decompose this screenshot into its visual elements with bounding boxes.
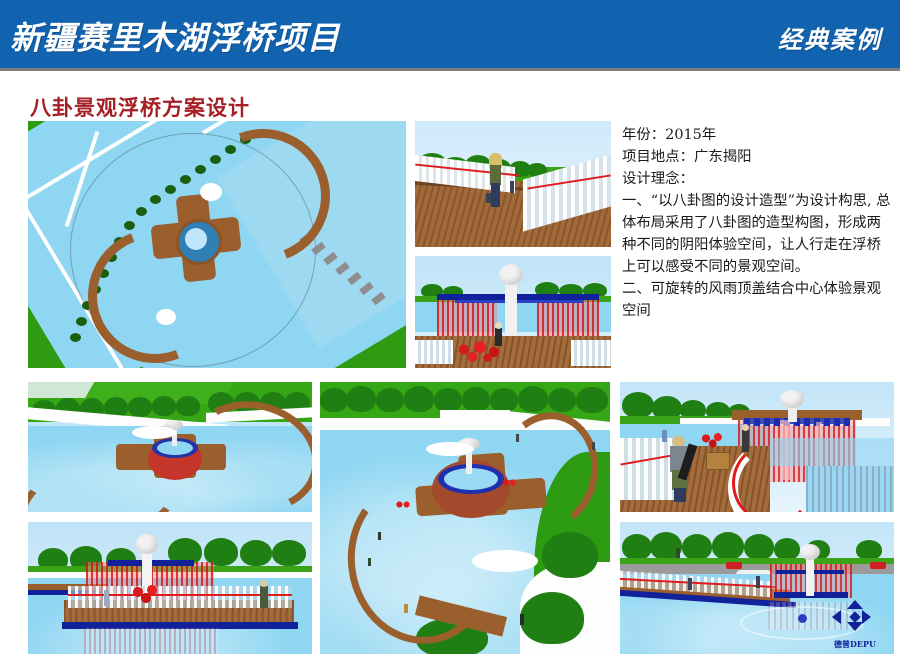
header-badge: 经典案例	[778, 20, 882, 55]
project-info-panel: 年份：2015年 项目地点：广东揭阳 设计理念： 一、“以八卦图的设计造型”为设…	[622, 124, 894, 322]
figure	[378, 532, 381, 540]
figure	[676, 548, 680, 558]
image-site-plan[interactable]	[28, 121, 406, 368]
figure	[674, 488, 686, 502]
info-concept-2: 二、可旋转的风雨顶盖结合中心体验景观空间	[622, 278, 894, 322]
slide-page: 新疆赛里木湖浮桥项目 经典案例 八卦景观浮桥方案设计	[0, 0, 900, 672]
company-logo: 德普DEPU	[824, 600, 886, 650]
figure	[662, 430, 667, 442]
section-title: 八卦景观浮桥方案设计	[30, 92, 250, 122]
info-concept-1: 一、“以八卦图的设计造型”为设计构思, 总体布局采用了八卦图的造型构图，形成两种…	[622, 190, 894, 278]
figure	[404, 604, 408, 613]
figure	[260, 586, 268, 608]
header-divider	[0, 68, 900, 71]
image-lakeside-view[interactable]: 德普DEPU	[620, 522, 894, 654]
image-pavilion-elevation[interactable]	[28, 522, 312, 654]
image-aerial-main[interactable]	[320, 382, 610, 654]
figure	[260, 580, 268, 587]
page-title: 新疆赛里木湖浮桥项目	[10, 13, 340, 59]
image-deck-walkway[interactable]	[415, 121, 611, 247]
figure	[495, 322, 502, 329]
figure	[104, 590, 109, 606]
figure	[490, 165, 501, 185]
figure	[368, 558, 371, 566]
flower-bed	[698, 432, 730, 448]
figure	[486, 193, 491, 203]
figure	[495, 328, 502, 346]
image-aerial-left[interactable]	[28, 382, 312, 512]
info-location: 项目地点：广东揭阳	[622, 146, 894, 168]
figure	[742, 430, 749, 452]
info-year: 年份：2015年	[622, 124, 894, 146]
logo-diamond-icon	[832, 600, 878, 638]
figure	[510, 181, 514, 193]
image-deck-people[interactable]	[620, 382, 894, 512]
figure	[592, 442, 595, 450]
figure	[491, 183, 500, 207]
info-concept-label: 设计理念：	[622, 168, 894, 190]
slide-header: 新疆赛里木湖浮桥项目 经典案例	[0, 0, 900, 68]
figure	[520, 614, 524, 625]
figure	[516, 434, 519, 442]
figure	[688, 578, 692, 590]
figure	[756, 576, 760, 588]
flower-bed	[128, 584, 168, 604]
figure	[742, 424, 749, 431]
image-pavilion-front[interactable]	[415, 256, 611, 368]
logo-text: 德普DEPU	[824, 639, 886, 650]
